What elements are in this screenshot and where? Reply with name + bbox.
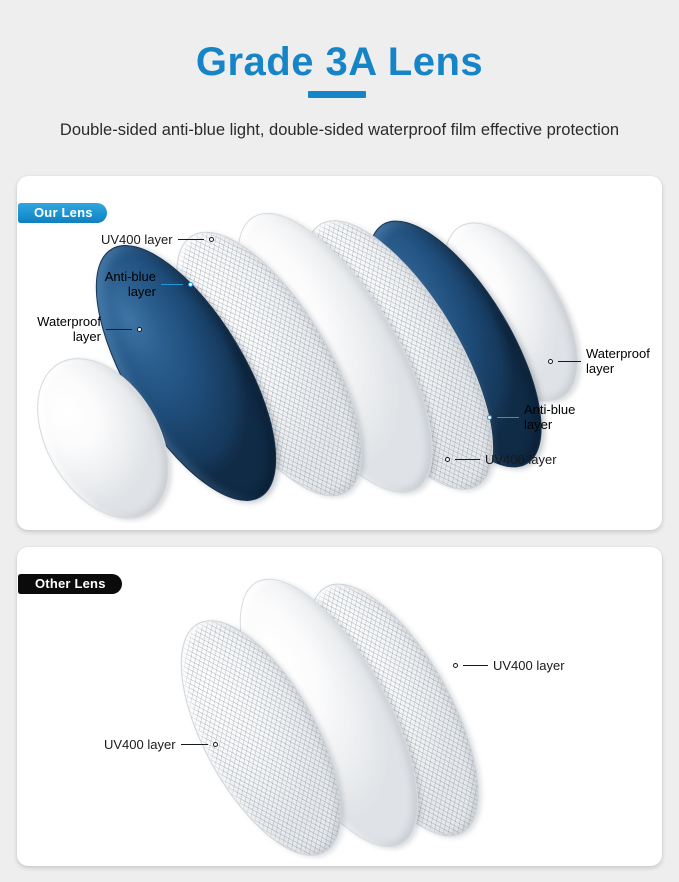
label-uv400-right: UV400 layer bbox=[445, 452, 557, 467]
page-subtitle: Double-sided anti-blue light, double-sid… bbox=[45, 119, 634, 142]
label-line-1: Anti-blue bbox=[524, 402, 575, 417]
label-anti-blue-right: Anti-bluelayer bbox=[487, 402, 602, 432]
leader-endpoint-dot bbox=[137, 327, 142, 332]
label-uv400-left: UV400 layer bbox=[104, 737, 218, 752]
header-section: Grade 3A Lens Double-sided anti-blue lig… bbox=[0, 0, 679, 172]
label-anti-blue-left: Anti-bluelayer bbox=[78, 269, 193, 299]
label-line-1: Anti-blue bbox=[105, 269, 156, 284]
label-anti-blue-left-text: Anti-bluelayer bbox=[78, 269, 156, 299]
leader-line bbox=[497, 417, 519, 418]
label-line-1: Waterproof bbox=[37, 314, 101, 329]
label-uv400-left-text: UV400 layer bbox=[101, 232, 173, 247]
other-lens-badge: Other Lens bbox=[18, 574, 122, 594]
our-lens-badge: Our Lens bbox=[18, 203, 107, 223]
leader-endpoint-dot bbox=[453, 663, 458, 668]
label-uv400-left-text: UV400 layer bbox=[104, 737, 176, 752]
label-waterproof-right: Waterprooflayer bbox=[548, 346, 662, 376]
leader-line bbox=[181, 744, 208, 745]
leader-endpoint-dot bbox=[445, 457, 450, 462]
label-line-1: Waterproof bbox=[586, 346, 650, 361]
our-lens-panel: UV400 layer Anti-bluelayer Waterprooflay… bbox=[17, 176, 662, 530]
leader-line bbox=[463, 665, 488, 666]
label-uv400-right-text: UV400 layer bbox=[485, 452, 557, 467]
label-uv400-left: UV400 layer bbox=[101, 232, 214, 247]
label-uv400-right: UV400 layer bbox=[453, 658, 565, 673]
leader-line bbox=[455, 459, 480, 460]
label-line-2: layer bbox=[524, 417, 552, 432]
label-waterproof-left-text: Waterprooflayer bbox=[23, 314, 101, 344]
leader-endpoint-dot bbox=[209, 237, 214, 242]
label-waterproof-left: Waterprooflayer bbox=[23, 314, 142, 344]
our-lens-exploded-diagram: UV400 layer Anti-bluelayer Waterprooflay… bbox=[17, 176, 662, 530]
label-waterproof-right-text: Waterprooflayer bbox=[586, 346, 662, 376]
leader-endpoint-dot bbox=[213, 742, 218, 747]
other-lens-panel: UV400 layer UV400 layer Other Lens bbox=[17, 547, 662, 866]
leader-line bbox=[161, 284, 183, 285]
label-line-2: layer bbox=[128, 284, 156, 299]
page-title: Grade 3A Lens bbox=[0, 38, 679, 86]
other-lens-exploded-diagram: UV400 layer UV400 layer bbox=[17, 547, 662, 866]
leader-line bbox=[178, 239, 204, 240]
title-underline-accent bbox=[308, 91, 366, 98]
leader-line bbox=[106, 329, 132, 330]
label-line-2: layer bbox=[73, 329, 101, 344]
leader-endpoint-dot bbox=[487, 415, 492, 420]
leader-line bbox=[558, 361, 581, 362]
label-line-2: layer bbox=[586, 361, 614, 376]
leader-endpoint-dot bbox=[188, 282, 193, 287]
label-uv400-right-text: UV400 layer bbox=[493, 658, 565, 673]
label-anti-blue-right-text: Anti-bluelayer bbox=[524, 402, 602, 432]
leader-endpoint-dot bbox=[548, 359, 553, 364]
